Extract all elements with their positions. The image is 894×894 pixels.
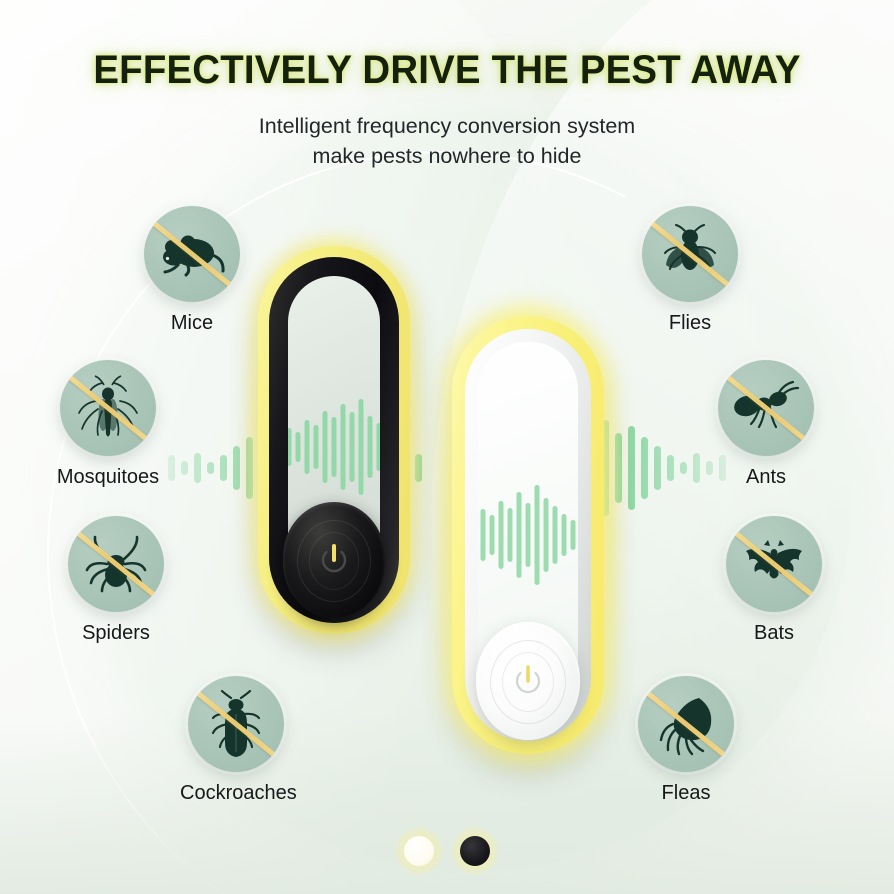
soundwave-bar: [641, 437, 648, 499]
white-repeller[interactable]: [452, 316, 604, 754]
pest-item-mosquitoes[interactable]: Mosquitoes: [52, 360, 164, 489]
soundwave-bar: [341, 404, 346, 490]
pest-label: Ants: [710, 466, 822, 489]
soundwave-bar: [233, 446, 240, 490]
pest-label: Spiders: [60, 622, 172, 645]
soundwave-bar: [517, 492, 522, 578]
black-swatch[interactable]: [460, 836, 490, 866]
pest-disc: [68, 516, 164, 612]
power-button[interactable]: [476, 622, 580, 740]
pest-label: Cockroaches: [180, 782, 292, 805]
pest-item-cockroaches[interactable]: Cockroaches: [180, 676, 292, 805]
subtitle-line-1: Intelligent frequency conversion system: [0, 111, 894, 141]
soundwave-bar: [314, 425, 319, 469]
white-swatch[interactable]: [404, 836, 434, 866]
pest-disc: [638, 676, 734, 772]
soundwave-bar: [194, 453, 201, 483]
pest-item-bats[interactable]: Bats: [718, 516, 830, 645]
soundwave-bar: [553, 506, 558, 564]
pest-disc: [642, 206, 738, 302]
soundwave-bar: [377, 423, 381, 471]
pest-item-flies[interactable]: Flies: [634, 206, 746, 335]
soundwave-bar: [332, 417, 337, 477]
soundwave-bar: [490, 515, 495, 555]
power-icon: [511, 662, 545, 700]
soundwave-bar: [207, 462, 214, 474]
pest-disc: [718, 360, 814, 456]
pest-disc: [144, 206, 240, 302]
pest-item-mice[interactable]: Mice: [136, 206, 248, 335]
soundwave-bar: [508, 508, 513, 562]
black-repeller[interactable]: [258, 246, 410, 634]
background-bottom-shadow: [0, 714, 894, 894]
power-button[interactable]: [283, 502, 385, 618]
page-title: EFFECTIVELY DRIVE THE PEST AWAY: [18, 48, 876, 93]
soundwave-bar: [481, 509, 486, 561]
soundwave-bar: [296, 432, 301, 462]
soundwave-bar: [571, 520, 576, 550]
pest-disc: [60, 360, 156, 456]
soundwave-bar: [220, 455, 227, 481]
pest-item-ants[interactable]: Ants: [710, 360, 822, 489]
soundwave-bar: [654, 446, 661, 490]
soundwave-bar: [368, 416, 373, 478]
color-swatches: [0, 836, 894, 866]
soundwave-bar: [323, 411, 328, 483]
soundwave-bar: [680, 462, 687, 474]
soundwave-bar: [305, 420, 310, 474]
subtitle: Intelligent frequency conversion system …: [0, 111, 894, 171]
power-icon: [317, 541, 351, 579]
pest-label: Mice: [136, 312, 248, 335]
header: EFFECTIVELY DRIVE THE PEST AWAY Intellig…: [0, 0, 894, 171]
device-inner-soundwave: [288, 399, 380, 495]
soundwave-bar: [168, 455, 175, 481]
soundwave-bar: [535, 485, 540, 585]
soundwave-bar: [628, 426, 635, 510]
soundwave-bar: [667, 455, 674, 481]
soundwave-bar: [288, 428, 292, 466]
pest-item-fleas[interactable]: Fleas: [630, 676, 742, 805]
pest-label: Fleas: [630, 782, 742, 805]
pest-label: Mosquitoes: [52, 466, 164, 489]
soundwave-bar: [562, 514, 567, 556]
soundwave-bar: [526, 503, 531, 567]
device-inner-soundwave: [478, 485, 578, 585]
pest-label: Flies: [634, 312, 746, 335]
pest-disc: [188, 676, 284, 772]
soundwave-bar: [693, 453, 700, 483]
soundwave-bar: [350, 412, 355, 482]
soundwave-bar: [359, 399, 364, 495]
soundwave-bar: [499, 501, 504, 569]
subtitle-line-2: make pests nowhere to hide: [0, 141, 894, 171]
pest-disc: [726, 516, 822, 612]
soundwave-bar: [181, 461, 188, 475]
pest-label: Bats: [718, 622, 830, 645]
product-infographic: EFFECTIVELY DRIVE THE PEST AWAY Intellig…: [0, 0, 894, 894]
pest-item-spiders[interactable]: Spiders: [60, 516, 172, 645]
soundwave-bar: [544, 498, 549, 572]
